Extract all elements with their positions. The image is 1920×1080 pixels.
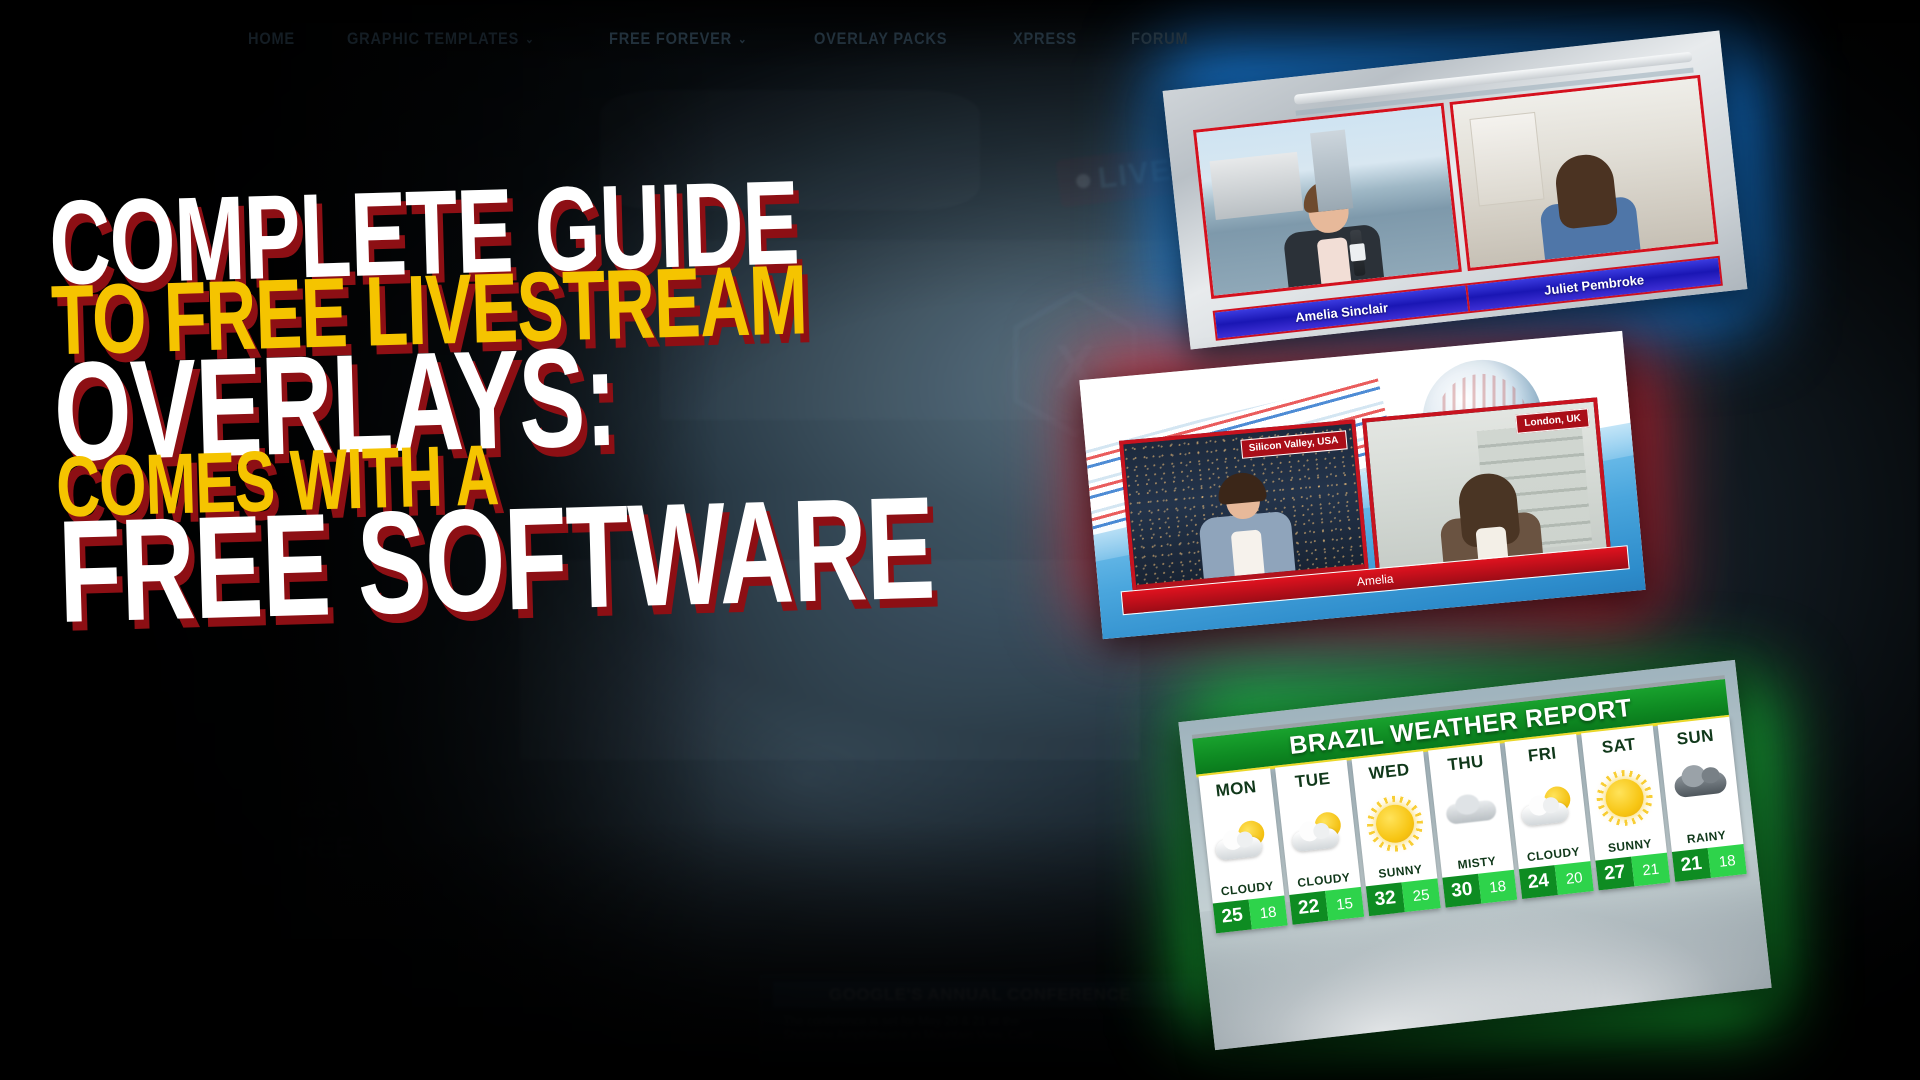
nav-item-label: FORUM (1131, 29, 1188, 49)
nav-item-graphic-templates[interactable]: GRAPHIC TEMPLATES ⌄ (347, 29, 535, 49)
presenter-right-figure (1535, 154, 1641, 260)
weather-condition: MISTY (1457, 854, 1497, 872)
chevron-down-icon: ⌄ (525, 33, 534, 45)
cloudy-icon (1202, 795, 1283, 886)
cloudy-icon (1508, 761, 1589, 852)
mist-icon (1431, 769, 1512, 860)
weather-high: 25 (1213, 900, 1252, 934)
weather-day-column[interactable]: SAT SUNNY 27 21 (1581, 725, 1670, 890)
weather-report-card[interactable]: BRAZIL WEATHER REPORT MON CLOUDY 25 18 T… (1178, 660, 1771, 1050)
nav-item-xpress[interactable]: XPRESS (1013, 29, 1077, 49)
presenter-left-figure (1278, 182, 1384, 288)
presenter-pane-right[interactable] (1449, 75, 1718, 271)
presenter-pane-left[interactable] (1193, 103, 1462, 299)
weather-low: 15 (1325, 887, 1364, 921)
nav-item-forum[interactable]: FORUM (1131, 29, 1188, 49)
headline-line-5: FREE SOFTWARE (57, 484, 936, 637)
nav-item-label: FREE FOREVER (609, 29, 732, 49)
presenter-right-video (1453, 78, 1715, 268)
weather-low: 18 (1708, 844, 1747, 878)
weather-low: 25 (1402, 878, 1441, 912)
presenter-left-video (1196, 106, 1458, 296)
news-split-card[interactable]: Silicon Valley, USA Aiden Carter London (1079, 331, 1645, 639)
nav-item-overlay-packs[interactable]: OVERLAY PACKS (814, 29, 947, 49)
weather-high: 22 (1289, 891, 1328, 925)
weather-low: 18 (1478, 870, 1517, 904)
rain-icon (1661, 744, 1742, 835)
nav-item-label: XPRESS (1013, 29, 1077, 49)
shirt (1231, 529, 1265, 576)
poster-stage: LIVE X GOOGLE'S ANNUAL CONFERENCE The co… (0, 0, 1920, 1080)
weather-day-column[interactable]: WED SUNNY 32 25 (1352, 751, 1441, 916)
hair (1553, 152, 1618, 230)
sun-icon (1355, 778, 1436, 869)
weather-condition: RAINY (1686, 828, 1727, 846)
nav-item-home[interactable]: HOME (248, 29, 295, 49)
cloudy-icon (1278, 787, 1359, 878)
sun-icon (1584, 752, 1665, 843)
weather-day-column[interactable]: THU MISTY 30 18 (1428, 743, 1517, 908)
weather-low: 20 (1555, 861, 1594, 895)
chevron-down-icon: ⌄ (738, 33, 747, 45)
hair (1301, 178, 1352, 213)
weather-high: 24 (1519, 865, 1558, 899)
weather-high: 32 (1366, 882, 1405, 916)
weather-low: 21 (1631, 853, 1670, 887)
nav-item-label: OVERLAY PACKS (814, 29, 947, 49)
weather-day-column[interactable]: TUE CLOUDY 22 15 (1275, 760, 1364, 925)
nav-item-label: HOME (248, 29, 295, 49)
weather-day-column[interactable]: FRI CLOUDY 24 20 (1505, 734, 1594, 899)
weather-high: 30 (1442, 874, 1481, 908)
news-left-anchor-figure (1195, 475, 1295, 579)
weather-high: 21 (1672, 848, 1711, 882)
weather-high: 27 (1595, 857, 1634, 891)
top-navigation: HOME GRAPHIC TEMPLATES ⌄ FREE FOREVER ⌄ … (0, 22, 1920, 56)
nav-item-label: GRAPHIC TEMPLATES (347, 29, 519, 49)
shirt (1317, 237, 1352, 284)
nav-item-free-forever[interactable]: FREE FOREVER ⌄ (609, 29, 747, 49)
weather-low: 18 (1249, 896, 1288, 930)
headline-block: COMPLETE GUIDE TO FREE LIVESTREAM OVERLA… (48, 165, 1011, 607)
